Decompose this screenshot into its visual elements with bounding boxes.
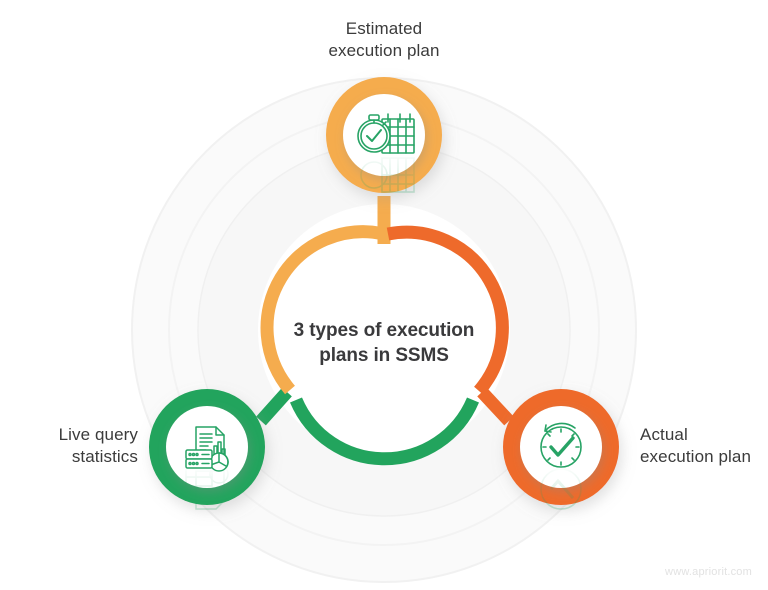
- label-actual-execution-plan: Actual execution plan: [640, 424, 768, 468]
- center-title: 3 types of execution plans in SSMS: [268, 318, 500, 368]
- diagram-svg: [0, 0, 768, 590]
- watermark: www.apriorit.com: [665, 566, 752, 578]
- label-live-query-statistics: Live query statistics: [6, 424, 138, 468]
- label-estimated-execution-plan: Estimated execution plan: [284, 18, 484, 62]
- node-estimated[interactable]: [326, 77, 442, 193]
- infographic-canvas: Estimated execution plan Live query stat…: [0, 0, 768, 590]
